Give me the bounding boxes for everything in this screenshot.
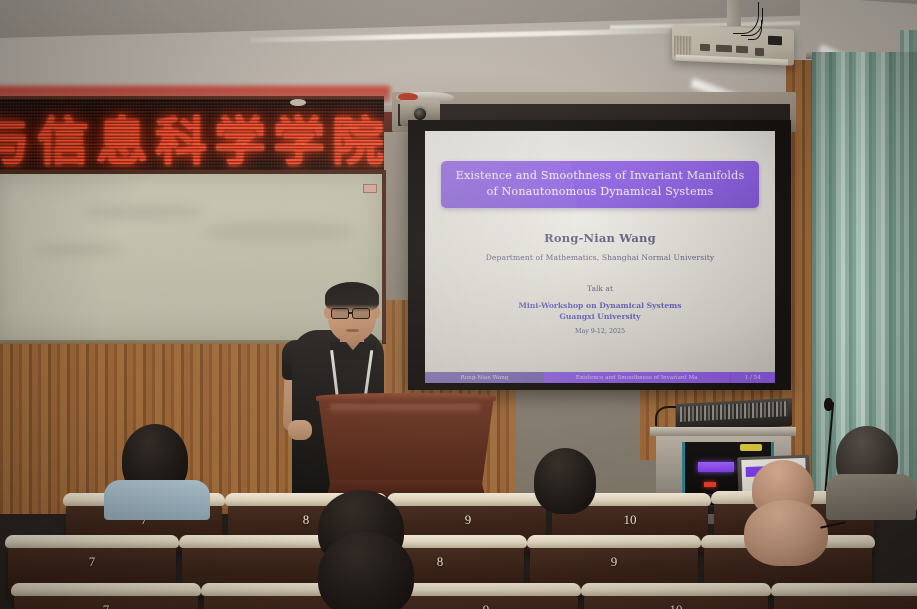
seat-headrest bbox=[581, 583, 771, 596]
eyeglasses-bridge-icon bbox=[349, 312, 353, 314]
slide-talk-at-label: Talk at bbox=[425, 284, 775, 293]
eyeglasses-right-lens-icon bbox=[352, 308, 370, 319]
podium-top-surface bbox=[316, 393, 496, 404]
eyeglasses-left-lens-icon bbox=[331, 308, 349, 319]
seat-row3-d[interactable]: 10 bbox=[584, 592, 768, 609]
seat-number: 9 bbox=[530, 554, 698, 570]
seat-headrest bbox=[5, 535, 179, 548]
equipment-rack-shelf bbox=[650, 427, 796, 436]
seat-row3-c[interactable]: 9 bbox=[394, 592, 578, 609]
slide-title-line-2: of Nonautonomous Dynamical Systems bbox=[449, 184, 751, 200]
projector-vent bbox=[674, 36, 692, 57]
seat-headrest bbox=[391, 583, 581, 596]
seat-headrest bbox=[387, 493, 549, 506]
seat-row3-a[interactable]: 7 bbox=[14, 592, 198, 609]
seat-number: 7 bbox=[14, 602, 198, 609]
speaker-mouth bbox=[346, 329, 359, 332]
audience-torso-4 bbox=[826, 474, 916, 520]
seat-row3-e[interactable] bbox=[774, 592, 917, 609]
slide-footer-page: 1 / 54 bbox=[730, 372, 776, 383]
lecture-hall-photo: 与信息科学学院 Existence and Smoothness of Inva… bbox=[0, 0, 917, 609]
whiteboard-smudge-3 bbox=[34, 244, 124, 256]
seat-number: 10 bbox=[552, 512, 708, 528]
presentation-slide: Existence and Smoothness of Invariant Ma… bbox=[425, 131, 775, 383]
slide-date: May 9-12, 2025 bbox=[425, 328, 775, 335]
cove-light-strip bbox=[250, 28, 670, 43]
slide-title-line-1: Existence and Smoothness of Invariant Ma… bbox=[449, 168, 751, 184]
whiteboard-smudge bbox=[84, 204, 204, 220]
seat-number: 7 bbox=[8, 554, 176, 570]
seat-number: 9 bbox=[390, 512, 546, 528]
projection-screen: Existence and Smoothness of Invariant Ma… bbox=[425, 131, 775, 383]
slide-author: Rong-Nian Wang bbox=[425, 231, 775, 245]
led-sign-text: 与信息科学学院 bbox=[0, 105, 384, 169]
slide-footer-title: Existence and Smoothness of Invariant Ma bbox=[544, 372, 730, 383]
slide-footer-author: Rong-Nian Wang bbox=[425, 372, 544, 383]
led-sign-mount bbox=[290, 99, 306, 106]
audience-seating: 7 8 9 10 7 bbox=[0, 440, 917, 609]
slide-venue: Mini-Workshop on Dynamical Systems Guang… bbox=[425, 301, 775, 323]
mixer-cable bbox=[655, 406, 677, 426]
projector-port-4 bbox=[755, 48, 764, 56]
slide-footer: Rong-Nian Wang Existence and Smoothness … bbox=[425, 372, 775, 383]
slide-affiliation: Department of Mathematics, Shanghai Norm… bbox=[425, 253, 775, 262]
seat-number: 10 bbox=[584, 602, 768, 609]
slide-title-box: Existence and Smoothness of Invariant Ma… bbox=[441, 161, 759, 208]
seat-number: 9 bbox=[394, 602, 578, 609]
projector-port-3 bbox=[736, 46, 748, 54]
projector-connector bbox=[768, 36, 782, 46]
window-curtain-edge bbox=[900, 30, 917, 500]
podium-highlight bbox=[330, 404, 480, 414]
seat-headrest bbox=[11, 583, 201, 596]
slide-venue-line-2: Guangxi University bbox=[425, 312, 775, 323]
speaker-left-hand bbox=[288, 420, 312, 440]
whiteboard-corner-tag bbox=[363, 184, 377, 193]
slide-venue-line-1: Mini-Workshop on Dynamical Systems bbox=[425, 301, 775, 312]
projector-port-1 bbox=[700, 44, 710, 51]
projector-port-2 bbox=[716, 45, 732, 53]
whiteboard-smudge-2 bbox=[204, 222, 354, 242]
seat-headrest bbox=[527, 535, 701, 548]
seat-headrest bbox=[771, 583, 917, 596]
audience-head-2 bbox=[534, 448, 596, 514]
audience-torso-1 bbox=[104, 480, 210, 520]
led-display-sign: 与信息科学学院 bbox=[0, 96, 384, 176]
audience-head-foreground bbox=[318, 532, 414, 609]
audience-head-6 bbox=[744, 500, 828, 566]
